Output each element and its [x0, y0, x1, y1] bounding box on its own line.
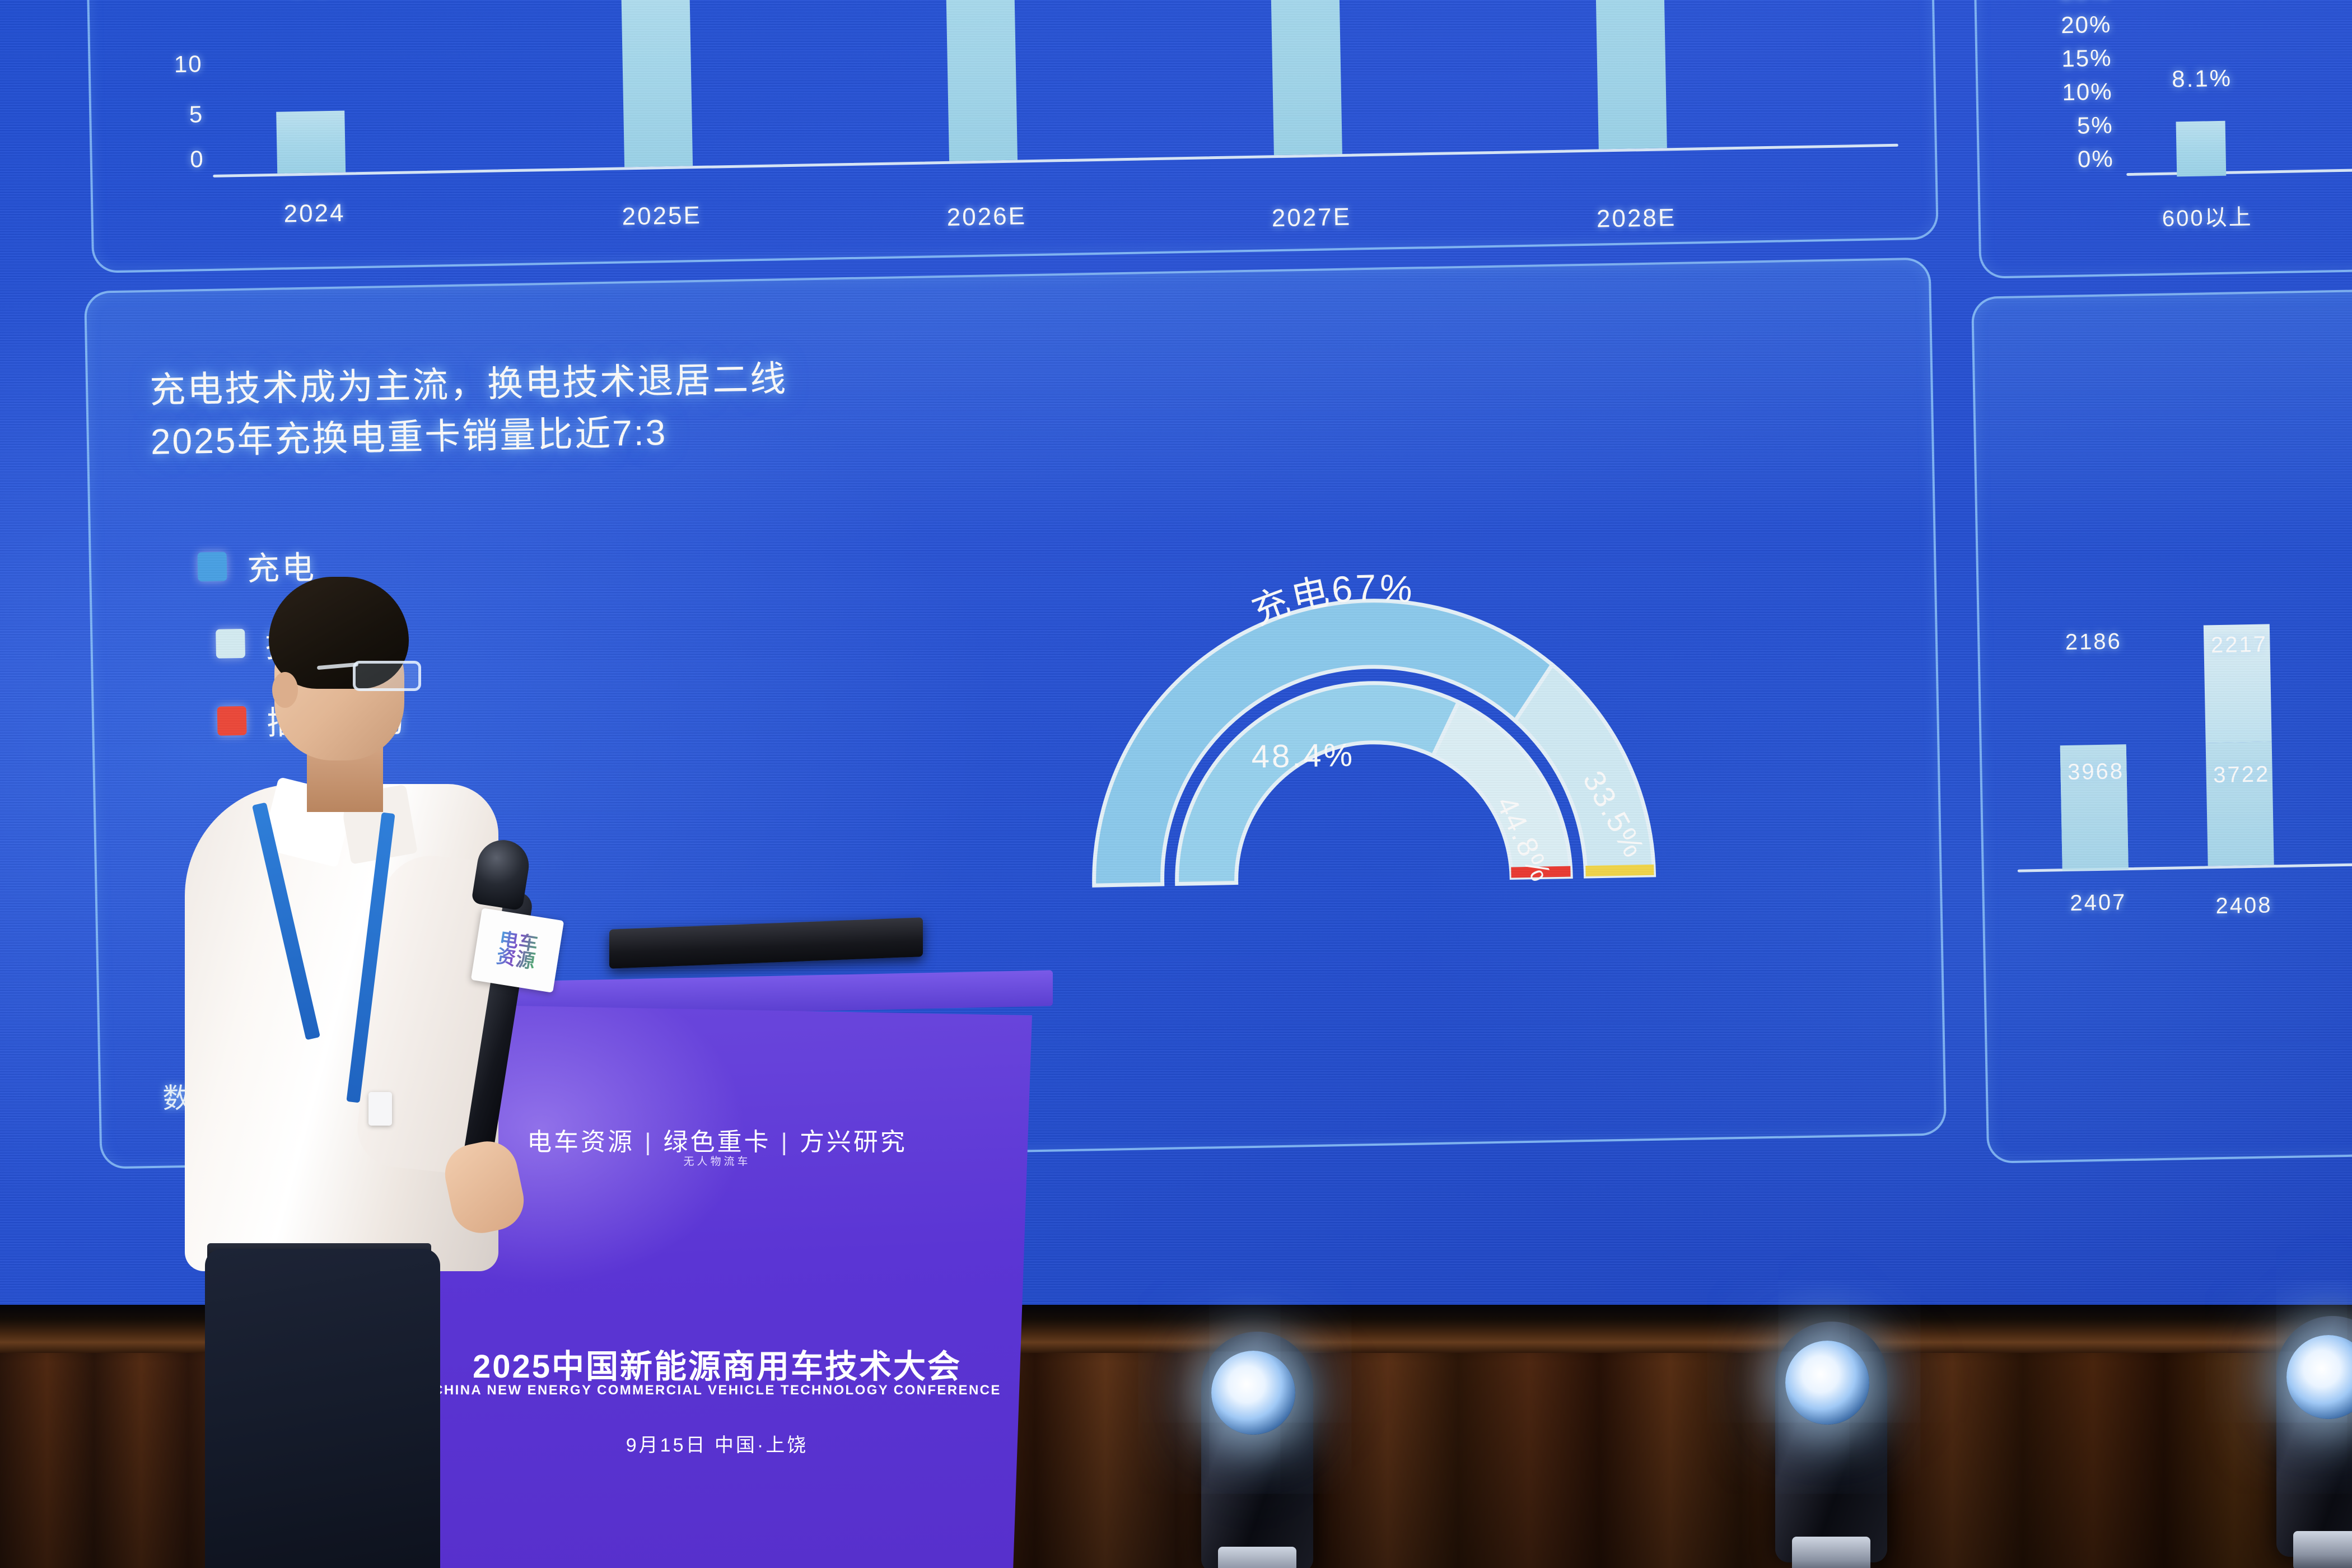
xtick-2027E: 2027E [1230, 202, 1393, 233]
speaker-person: 电车 资源 [185, 577, 498, 1568]
ytick-20pct: 20% [2010, 11, 2112, 39]
podium-brand-1: 电车资源 [527, 1128, 634, 1156]
xtick-2028E: 2028E [1555, 203, 1718, 234]
ytick-10pct: 10% [2012, 78, 2113, 106]
microphone-flag: 电车 资源 [471, 908, 564, 993]
speaker-badge [368, 1092, 392, 1126]
ytick-5: 5 [125, 101, 204, 129]
chart-panel-side-right: 2186 3968 2407 2217 3722 2408 [1971, 289, 2352, 1164]
stack-label-3968: 3968 [2054, 759, 2138, 786]
chart-panel-top-right: 0% 5% 10% 15% 20% 25% 8.1% 600以上 [1971, 0, 2352, 279]
stage-light-3 [2276, 1316, 2352, 1557]
stage-light-2 [1775, 1322, 1887, 1562]
stack-bottom-2408 [2206, 741, 2274, 866]
sliver-other-yellow [1585, 865, 1654, 876]
ytick-25pct: 25% [2010, 0, 2111, 6]
bar-label-2024: 8.5 [240, 0, 381, 2]
ytick-15pct: 15% [2011, 44, 2112, 73]
stack-label-2186: 2186 [2051, 629, 2136, 656]
bar-2025E [620, 0, 693, 167]
bar-2028E [1592, 0, 1667, 150]
ytick-0: 0 [125, 146, 204, 174]
xtick-2408: 2408 [2191, 893, 2298, 920]
stack-label-3722: 3722 [2199, 762, 2284, 788]
bar-2027E [1267, 0, 1342, 155]
microphone-flag-text: 电车 资源 [495, 930, 539, 972]
stage-light-lens [1785, 1341, 1869, 1425]
speaker-glasses [353, 661, 421, 691]
headline-line-2: 2025年充换电重卡销量比近7:3 [150, 407, 668, 468]
x-axis-line [213, 144, 1898, 178]
x-axis-line-right [2126, 168, 2352, 176]
brand-separator-2: | [781, 1128, 790, 1156]
ytick-0pct: 0% [2013, 145, 2114, 174]
stage-light-base [1792, 1537, 1870, 1568]
headline-line-1: 充电技术成为主流，换电技术退居二线 [149, 353, 787, 416]
bar-600plus [2176, 121, 2227, 177]
speaker-ear [272, 672, 298, 708]
brand-separator-1: | [645, 1128, 653, 1156]
xtick-600plus: 600以上 [2143, 198, 2272, 233]
xtick-2025E: 2025E [580, 201, 743, 232]
xtick-2026E: 2026E [905, 202, 1068, 232]
ytick-5pct: 5% [2012, 111, 2113, 140]
xtick-2024: 2024 [233, 198, 396, 229]
xtick-2407: 2407 [2045, 889, 2152, 916]
stack-label-2217: 2217 [2197, 632, 2281, 659]
donut-label-48-4: 48.4% [1251, 737, 1355, 775]
stage-light-lens [1211, 1351, 1295, 1435]
bar-2024 [276, 111, 346, 174]
podium-brand-2: 绿色重卡 [664, 1128, 771, 1156]
bar-2026E [944, 0, 1018, 161]
podium-brand-3: 方兴研究 [800, 1128, 907, 1156]
conference-stage-photo: 0 5 10 8.5 2024 2025E 2026E 2027E 2028E … [0, 0, 2352, 1568]
ytick-10: 10 [124, 50, 203, 79]
bar-label-8-1pct: 8.1% [2146, 64, 2258, 94]
semicircle-donut-chart: 充电67% 48.4% 33.5% 44.8% [955, 461, 1786, 902]
speaker-trousers [205, 1249, 440, 1568]
stage-light-1 [1201, 1332, 1313, 1568]
stage-light-base [2293, 1531, 2352, 1568]
stage-light-base [1218, 1547, 1296, 1568]
chart-panel-top-left: 0 5 10 8.5 2024 2025E 2026E 2027E 2028E [84, 0, 1939, 273]
